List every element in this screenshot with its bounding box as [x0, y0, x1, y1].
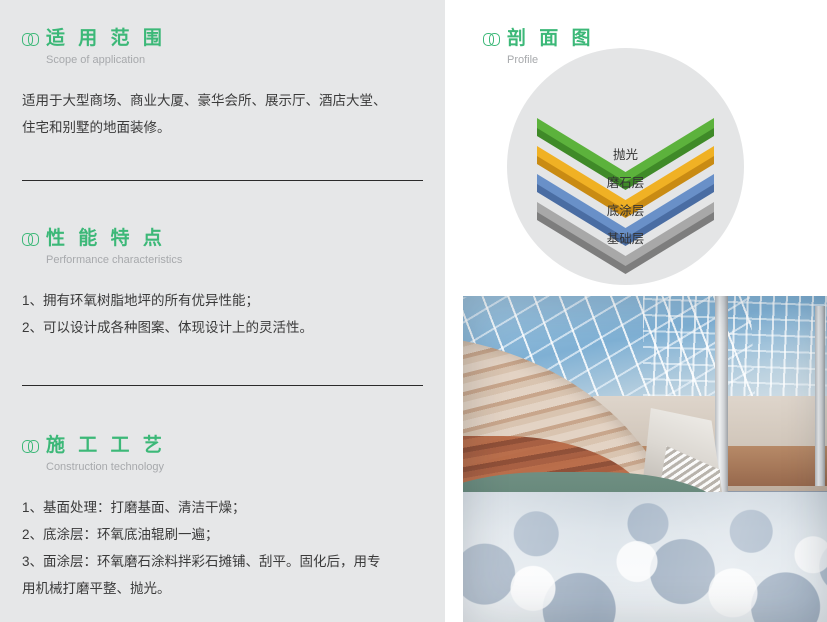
profile-layer: 基础层 — [507, 202, 744, 292]
section-subtitle: Scope of application — [46, 53, 423, 67]
section-divider — [22, 180, 423, 181]
body-line: 用机械打磨平整、抛光。 — [22, 575, 423, 602]
body-line: 2、底涂层：环氧底油辊刷一遍； — [22, 521, 423, 548]
double-rounded-square-icon — [483, 30, 502, 49]
chevron-shape-icon — [507, 202, 744, 292]
section-title: 性 能 特 点 — [46, 228, 166, 250]
section-subtitle: Construction technology — [46, 460, 423, 474]
section-body: 1、拥有环氧树脂地坪的所有优异性能； 2、可以设计成各种图案、体现设计上的灵活性… — [22, 287, 423, 341]
body-line: 1、拥有环氧树脂地坪的所有优异性能； — [22, 287, 423, 314]
profile-layer-stack: 抛光 磨石层 底涂层 — [507, 48, 744, 285]
section-title: 适 用 范 围 — [46, 28, 166, 50]
section-title: 剖 面 图 — [507, 28, 595, 50]
section-body: 适用于大型商场、商业大厦、豪华会所、展示厅、酒店大堂、 住宅和别墅的地面装修。 — [22, 87, 423, 141]
left-info-panel: 适 用 范 围 Scope of application 适用于大型商场、商业大… — [0, 0, 445, 622]
body-line: 3、面涂层：环氧磨石涂料拌彩石摊铺、刮平。固化后，用专 — [22, 548, 423, 575]
section-performance-characteristics: 性 能 特 点 Performance characteristics 1、拥有… — [22, 228, 423, 341]
profile-layer-label: 基础层 — [507, 232, 744, 246]
section-title-row: 施 工 工 艺 — [22, 435, 423, 457]
section-construction-technology: 施 工 工 艺 Construction technology 1、基面处理：打… — [22, 435, 423, 602]
section-title-row: 适 用 范 围 — [22, 28, 423, 50]
body-line: 适用于大型商场、商业大厦、豪华会所、展示厅、酒店大堂、 — [22, 87, 423, 114]
section-title-row: 性 能 特 点 — [22, 228, 423, 250]
double-rounded-square-icon — [22, 437, 41, 456]
section-scope-of-application: 适 用 范 围 Scope of application 适用于大型商场、商业大… — [22, 28, 423, 141]
section-subtitle: Performance characteristics — [46, 253, 423, 267]
double-rounded-square-icon — [22, 30, 41, 49]
body-line: 2、可以设计成各种图案、体现设计上的灵活性。 — [22, 314, 423, 341]
double-rounded-square-icon — [22, 230, 41, 249]
section-divider — [22, 385, 423, 386]
body-line: 住宅和别墅的地面装修。 — [22, 114, 423, 141]
section-title: 施 工 工 艺 — [46, 435, 166, 457]
atrium-interior-photo — [463, 296, 827, 622]
body-line: 1、基面处理：打磨基面、清洁干燥； — [22, 494, 423, 521]
profile-diagram-circle: 抛光 磨石层 底涂层 — [507, 48, 744, 285]
photo-vignette — [463, 296, 827, 622]
right-media-panel: 剖 面 图 Profile 抛光 磨石层 — [445, 0, 827, 622]
section-body: 1、基面处理：打磨基面、清洁干燥； 2、底涂层：环氧底油辊刷一遍； 3、面涂层：… — [22, 494, 423, 602]
section-title-row: 剖 面 图 — [483, 28, 595, 50]
